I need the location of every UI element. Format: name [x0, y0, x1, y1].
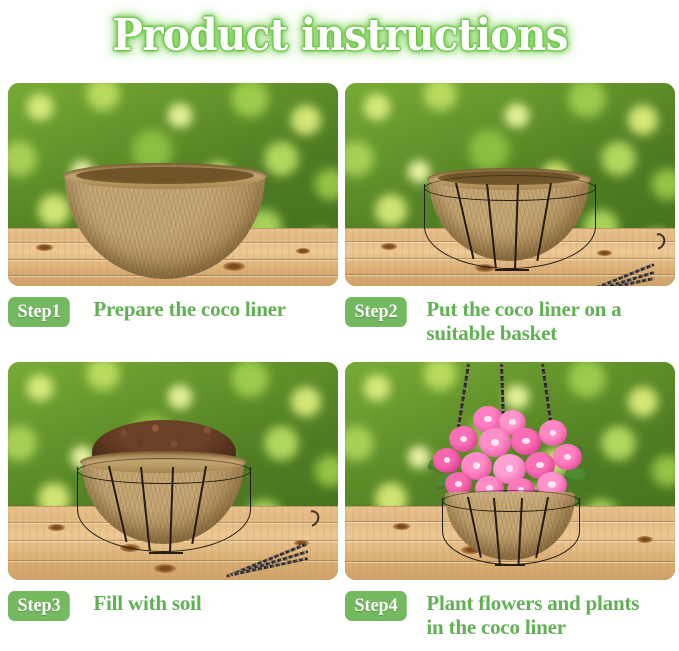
header: Product instructions	[0, 0, 679, 70]
hanging-chain-set	[220, 500, 325, 562]
step-2-caption: Step2 Put the coco liner on a suitable b…	[345, 297, 675, 345]
step-1-caption: Step1 Prepare the coco liner	[8, 297, 338, 327]
wire-basket-foot	[495, 269, 529, 271]
flower-icon	[479, 428, 511, 457]
hanging-chain-set	[570, 227, 670, 279]
step-card-2: Step2 Put the coco liner on a suitable b…	[345, 83, 675, 345]
chain-hook-icon	[300, 507, 322, 530]
step-1-photo	[8, 83, 338, 286]
step-card-4: Step4 Plant flowers and plants in the co…	[345, 362, 675, 639]
step-caption-3: Fill with soil	[93, 591, 201, 616]
coco-liner-interior	[76, 167, 254, 184]
step-3-caption: Step3 Fill with soil	[8, 591, 338, 621]
step-card-3: Step3 Fill with soil	[8, 362, 338, 621]
flower-icon	[449, 426, 478, 452]
step-caption-2: Put the coco liner on a suitable basket	[426, 297, 621, 345]
step-4-photo	[345, 362, 675, 580]
step-caption-4: Plant flowers and plants in the coco lin…	[426, 591, 639, 639]
flower-icon	[511, 428, 541, 455]
steps-grid: Step1 Prepare the coco liner	[0, 70, 679, 651]
wire-basket-cage	[442, 498, 580, 565]
step-badge-2: Step2	[345, 297, 407, 327]
step-badge-1: Step1	[8, 297, 70, 327]
step-card-1: Step1 Prepare the coco liner	[8, 83, 338, 327]
step-badge-3: Step3	[8, 591, 70, 621]
wire-basket-foot	[495, 564, 525, 566]
step-2-photo	[345, 83, 675, 286]
chain-hook-icon	[646, 230, 668, 253]
step-badge-4: Step4	[345, 591, 407, 621]
wire-basket-foot	[149, 552, 183, 554]
step-3-photo	[8, 362, 338, 580]
step-caption-1: Prepare the coco liner	[93, 297, 286, 322]
flower-icon	[553, 444, 582, 470]
step-4-caption: Step4 Plant flowers and plants in the co…	[345, 591, 675, 639]
flower-icon	[433, 448, 461, 473]
flower-icon	[539, 420, 567, 446]
page-title: Product instructions	[112, 10, 567, 61]
